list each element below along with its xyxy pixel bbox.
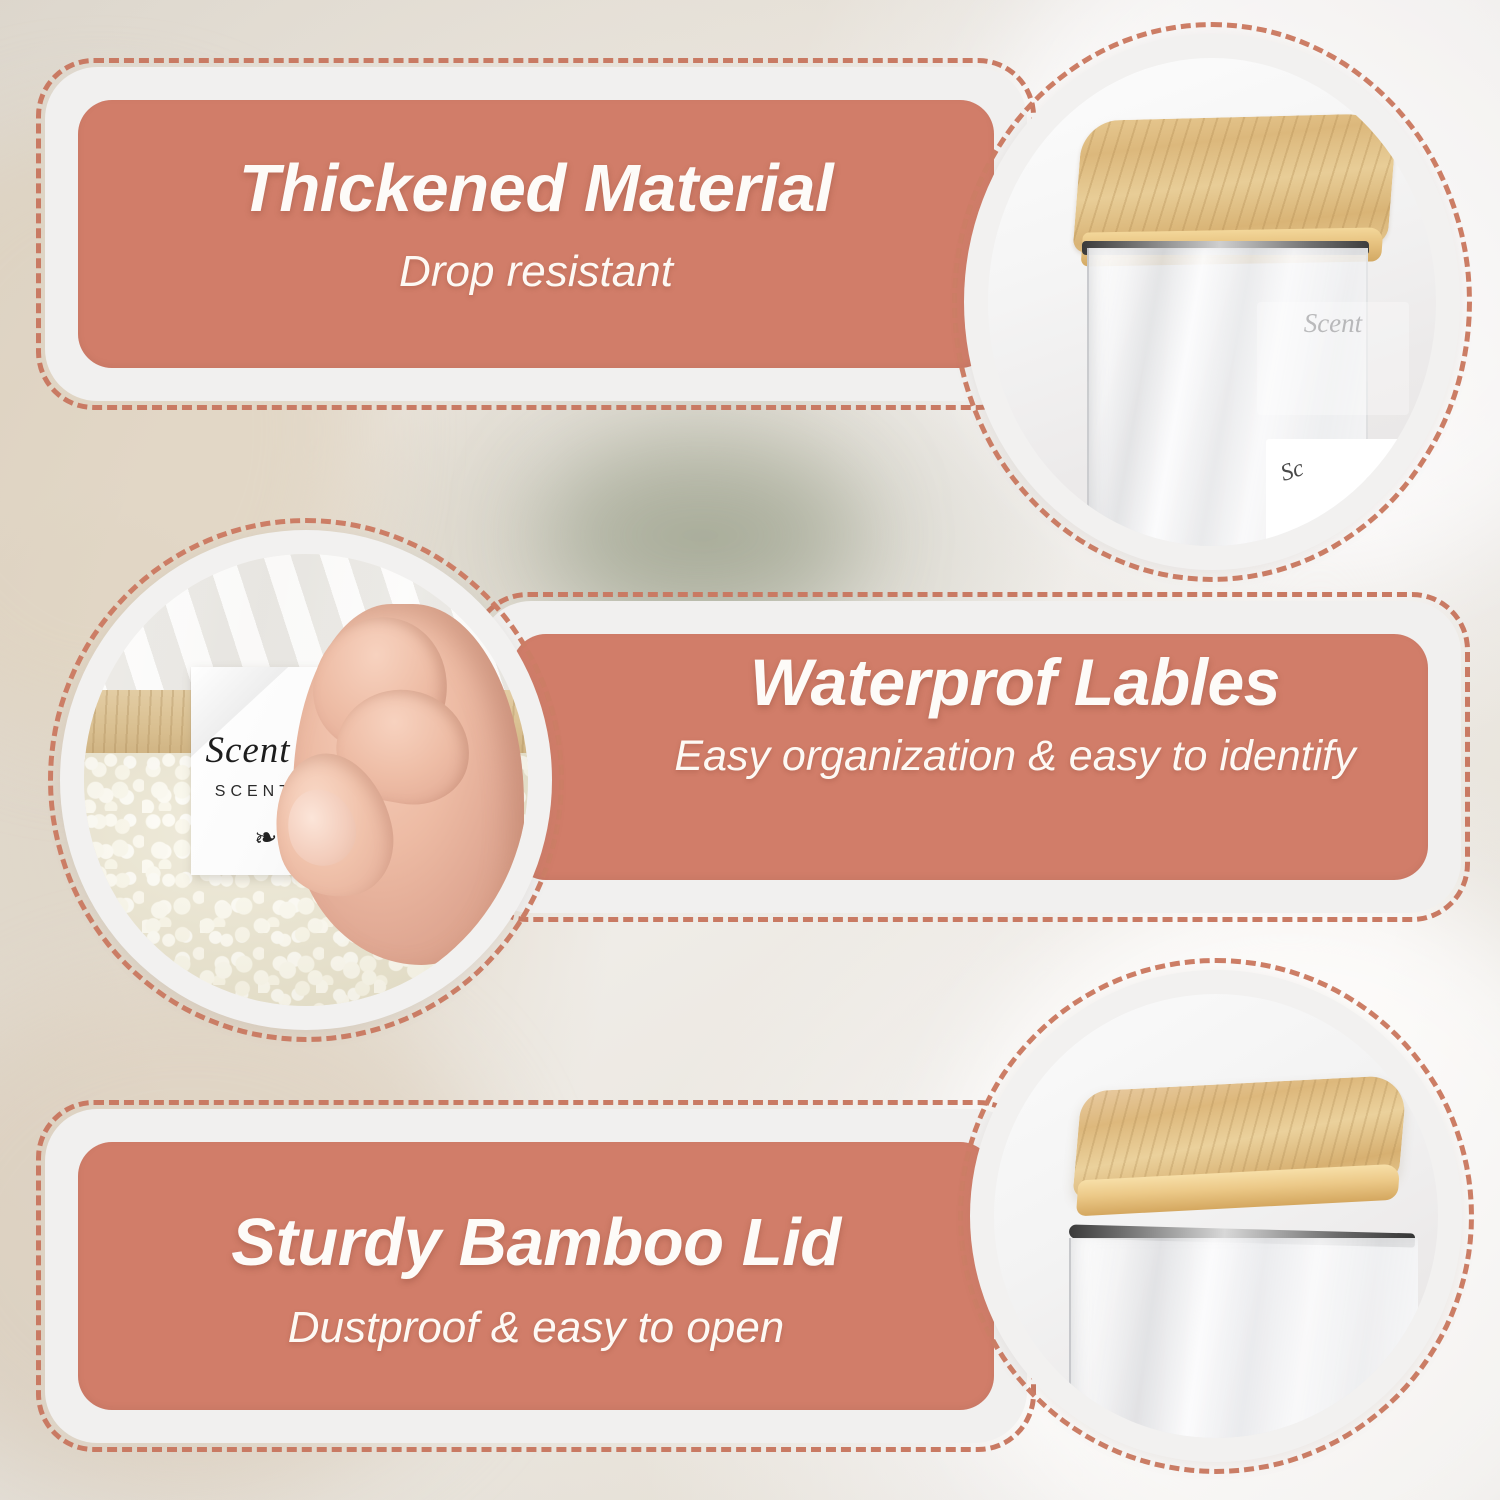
sticker-script-text: Scent <box>205 729 290 772</box>
feature-photo-waterproof-labels: Scent SCENT ❧ <box>48 518 564 1042</box>
photo-scene-label-peel: Scent SCENT ❧ <box>84 554 528 1006</box>
glass-jar-body <box>1069 1238 1417 1438</box>
feature-subtitle: Dustproof & easy to open <box>288 1302 785 1354</box>
jar-label-front-card: Sc <box>1266 439 1414 546</box>
photo-scene-jar: Scent Sc <box>988 58 1436 546</box>
feature-subtitle: Easy organization & easy to identify <box>674 731 1355 782</box>
jar-label-front-mark: Sc <box>1277 455 1307 488</box>
jar-label-ghost: Scent <box>1257 302 1409 415</box>
feature-subtitle: Drop resistant <box>399 246 673 298</box>
medallion-photo: Scent Sc <box>988 58 1436 546</box>
medallion-photo <box>994 994 1438 1438</box>
feature-title: Sturdy Bamboo Lid <box>231 1208 840 1278</box>
feature-title: Thickened Material <box>239 154 833 224</box>
feature-panel-thickened-material: Thickened Material Drop resistant <box>36 58 1036 410</box>
photo-scene-lid-open <box>994 994 1438 1438</box>
feature-panel-waterproof-labels: Waterprof Lables Easy organization & eas… <box>470 592 1470 922</box>
feature-photo-thickened-material: Scent Sc <box>952 22 1472 582</box>
medallion-photo: Scent SCENT ❧ <box>84 554 528 1006</box>
infographic-canvas: Thickened Material Drop resistant Scent … <box>0 0 1500 1500</box>
feature-photo-sturdy-bamboo-lid <box>958 958 1474 1474</box>
panel-copy: Waterprof Lables Easy organization & eas… <box>590 648 1440 781</box>
panel-copy: Thickened Material Drop resistant <box>36 154 1036 298</box>
feature-title: Waterprof Lables <box>750 648 1280 717</box>
feature-panel-sturdy-bamboo-lid: Sturdy Bamboo Lid Dustproof & easy to op… <box>36 1100 1036 1452</box>
panel-copy: Sturdy Bamboo Lid Dustproof & easy to op… <box>36 1208 1036 1354</box>
